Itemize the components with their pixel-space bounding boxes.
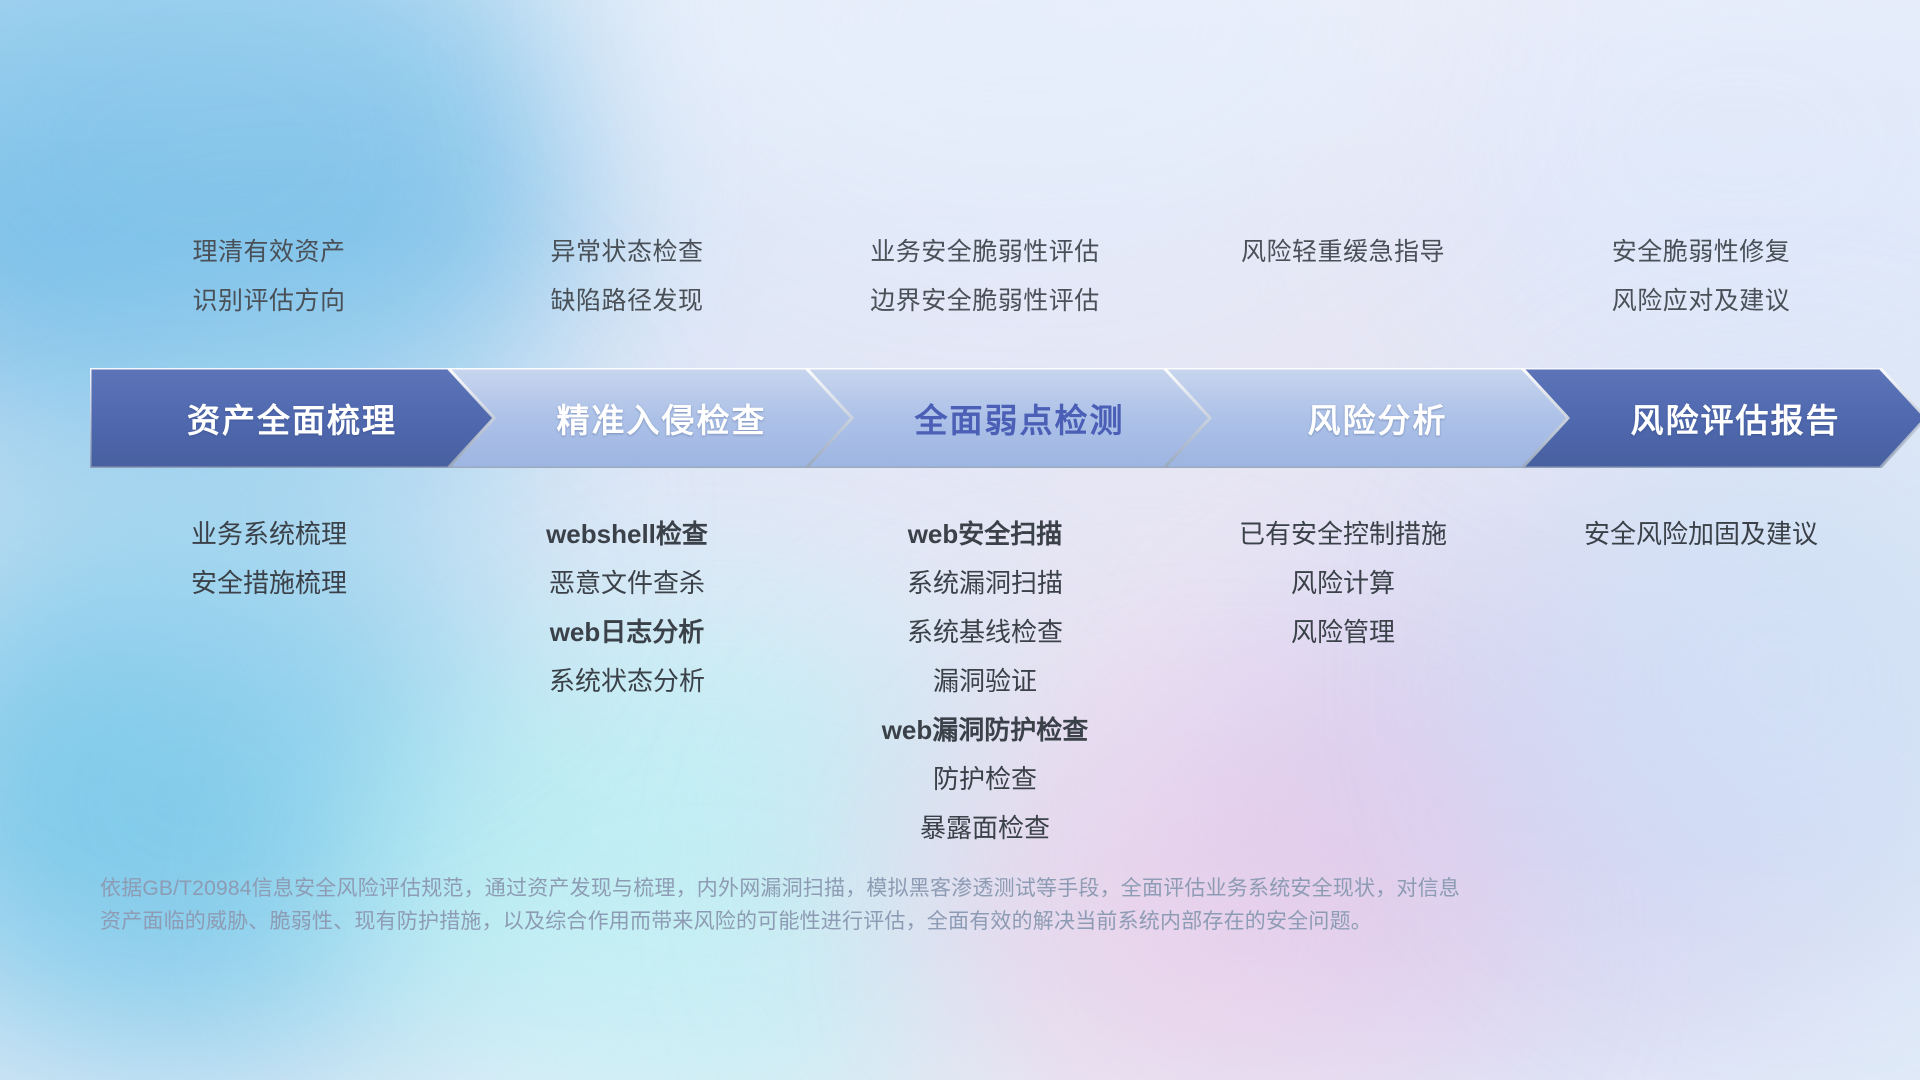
top-note-line: 风险轻重缓急指导 bbox=[1164, 228, 1522, 277]
footer-line-1: 依据GB/T20984信息安全风险评估规范，通过资产发现与梳理，内外网漏洞扫描，… bbox=[100, 872, 1660, 905]
list-item: 安全风险加固及建议 bbox=[1522, 510, 1880, 559]
stage-chevron-asset-sorting[interactable]: 资产全面梳理 bbox=[90, 368, 494, 468]
top-note-line: 边界安全脆弱性评估 bbox=[806, 277, 1164, 326]
stage-label: 精准入侵检查 bbox=[557, 394, 767, 442]
list-item: webshell检查 bbox=[448, 510, 806, 559]
column-top-notes: 风险轻重缓急指导 bbox=[1164, 228, 1522, 277]
top-note-line: 异常状态检查 bbox=[448, 228, 806, 277]
top-note-line: 理清有效资产 bbox=[90, 228, 448, 277]
footer-line-2: 资产面临的威胁、脆弱性、现有防护措施，以及综合作用而带来风险的可能性进行评估，全… bbox=[100, 905, 1660, 938]
stage-label: 风险评估报告 bbox=[1631, 394, 1841, 442]
stage-chevron-weakness-detection[interactable]: 全面弱点检测 bbox=[806, 368, 1210, 468]
list-item: 业务系统梳理 bbox=[90, 510, 448, 559]
list-item: 安全措施梳理 bbox=[90, 559, 448, 608]
stage-label: 风险分析 bbox=[1308, 394, 1448, 442]
list-item: 漏洞验证 bbox=[806, 657, 1164, 706]
stage-chevron-risk-analysis[interactable]: 风险分析 bbox=[1164, 368, 1568, 468]
list-item: 系统基线检查 bbox=[806, 608, 1164, 657]
top-note-line: 缺陷路径发现 bbox=[448, 277, 806, 326]
stage-chevron-assessment-report[interactable]: 风险评估报告 bbox=[1522, 368, 1920, 468]
column-item-list: 安全风险加固及建议 bbox=[1522, 510, 1880, 559]
stage-label: 全面弱点检测 bbox=[915, 394, 1125, 442]
top-note-line: 识别评估方向 bbox=[90, 277, 448, 326]
column-item-list: 已有安全控制措施风险计算风险管理 bbox=[1164, 510, 1522, 657]
top-note-line: 安全脆弱性修复 bbox=[1522, 228, 1880, 277]
list-item: 恶意文件查杀 bbox=[448, 559, 806, 608]
column-top-notes: 理清有效资产识别评估方向 bbox=[90, 228, 448, 326]
list-item: web日志分析 bbox=[448, 608, 806, 657]
list-item: 已有安全控制措施 bbox=[1164, 510, 1522, 559]
list-item: 系统状态分析 bbox=[448, 657, 806, 706]
slide-canvas: 理清有效资产识别评估方向 资产全面梳理业务系统梳理安全措施梳理异常状态检查缺陷路… bbox=[0, 0, 1920, 1080]
list-item: 风险管理 bbox=[1164, 608, 1522, 657]
list-item: web漏洞防护检查 bbox=[806, 706, 1164, 755]
footer-note: 依据GB/T20984信息安全风险评估规范，通过资产发现与梳理，内外网漏洞扫描，… bbox=[100, 872, 1660, 938]
column-item-list: web安全扫描系统漏洞扫描系统基线检查漏洞验证web漏洞防护检查防护检查暴露面检… bbox=[806, 510, 1164, 853]
column-top-notes: 异常状态检查缺陷路径发现 bbox=[448, 228, 806, 326]
column-top-notes: 安全脆弱性修复风险应对及建议 bbox=[1522, 228, 1880, 326]
list-item: 防护检查 bbox=[806, 755, 1164, 804]
column-item-list: webshell检查恶意文件查杀web日志分析系统状态分析 bbox=[448, 510, 806, 706]
stage-label: 资产全面梳理 bbox=[187, 394, 397, 442]
list-item: web安全扫描 bbox=[806, 510, 1164, 559]
list-item: 系统漏洞扫描 bbox=[806, 559, 1164, 608]
top-note-line: 业务安全脆弱性评估 bbox=[806, 228, 1164, 277]
slide-content: 理清有效资产识别评估方向 资产全面梳理业务系统梳理安全措施梳理异常状态检查缺陷路… bbox=[0, 0, 1920, 1080]
column-top-notes: 业务安全脆弱性评估边界安全脆弱性评估 bbox=[806, 228, 1164, 326]
stage-chevron-intrusion-check[interactable]: 精准入侵检查 bbox=[448, 368, 852, 468]
list-item: 暴露面检查 bbox=[806, 804, 1164, 853]
top-note-line: 风险应对及建议 bbox=[1522, 277, 1880, 326]
list-item: 风险计算 bbox=[1164, 559, 1522, 608]
column-item-list: 业务系统梳理安全措施梳理 bbox=[90, 510, 448, 608]
